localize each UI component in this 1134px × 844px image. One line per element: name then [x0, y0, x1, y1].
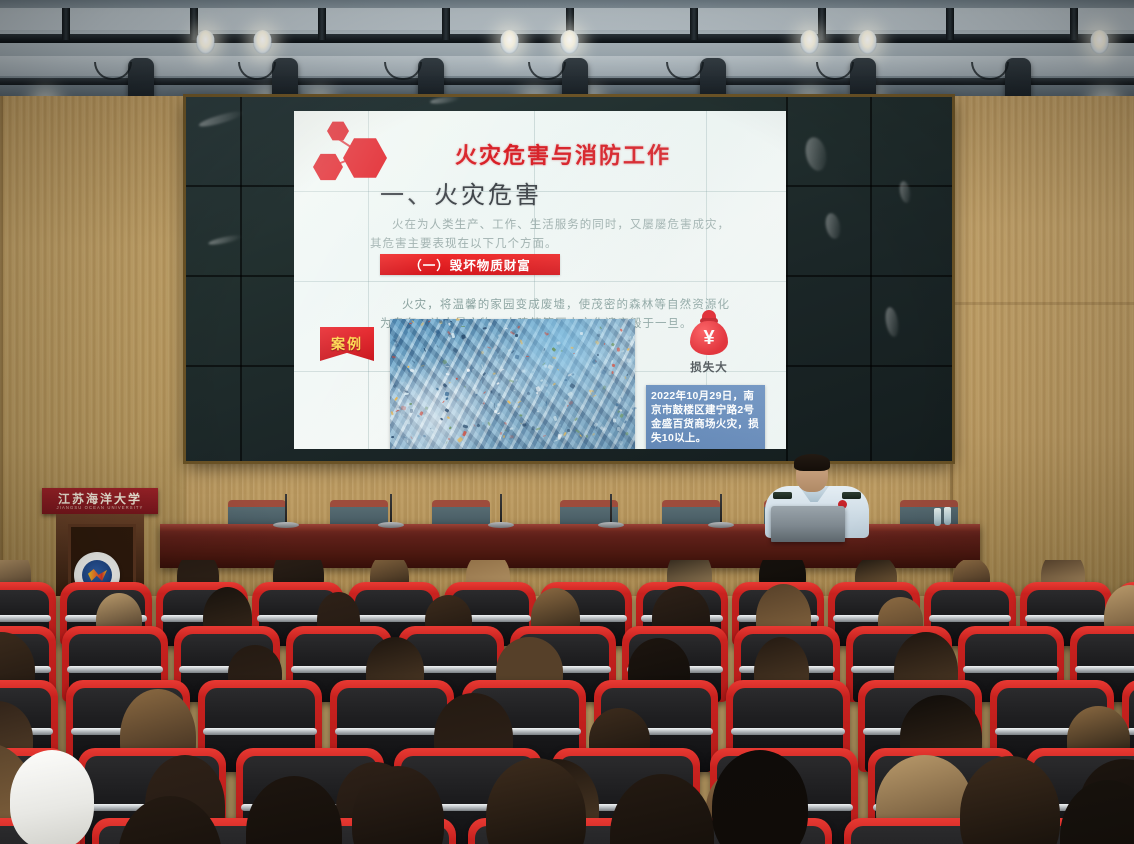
photo-detail-speck: [536, 427, 541, 430]
wall-seam: [950, 302, 1134, 305]
photo-detail-speck: [521, 370, 525, 373]
ceiling-downlight: [1090, 30, 1109, 54]
photo-detail-speck: [575, 429, 580, 434]
ceiling-truss-post: [62, 8, 70, 40]
podium-name-english: JIANGSU OCEAN UNIVERSITY: [42, 505, 158, 510]
photo-detail-speck: [410, 436, 412, 439]
photo-detail-speck: [463, 425, 469, 429]
photo-detail-speck: [448, 437, 451, 440]
speaker-hair: [794, 454, 830, 471]
photo-detail-speck: [568, 391, 574, 396]
photo-detail-speck: [548, 364, 554, 370]
photo-detail-speck: [496, 382, 500, 385]
ceiling-truss-post: [946, 8, 954, 40]
photo-detail-speck: [508, 379, 513, 383]
photo-detail-speck: [432, 429, 435, 432]
photo-detail-speck: [396, 366, 400, 372]
photo-detail-speck: [627, 347, 630, 350]
photo-detail-speck: [564, 379, 567, 381]
photo-detail-speck: [545, 401, 546, 406]
photo-detail-speck: [509, 440, 512, 444]
photo-detail-speck: [422, 434, 425, 437]
photo-detail-speck: [442, 359, 447, 364]
slide-title: 火灾危害与消防工作: [398, 138, 728, 170]
photo-detail-speck: [493, 345, 498, 350]
photo-detail-speck: [627, 359, 632, 363]
water-bottle: [934, 508, 941, 526]
wall-seam: [0, 96, 3, 596]
photo-detail-speck: [435, 387, 438, 390]
photo-detail-speck: [421, 365, 425, 367]
photo-detail-speck: [401, 356, 406, 360]
photo-detail-speck: [580, 332, 583, 335]
hexagon-large-icon: [343, 137, 387, 179]
ceiling-downlight: [196, 30, 215, 54]
ceiling-truss-post: [818, 8, 826, 40]
podium-nameplate: 江苏海洋大学 JIANGSU OCEAN UNIVERSITY: [42, 488, 158, 514]
photo-detail-speck: [544, 384, 548, 388]
photo-detail-speck: [632, 336, 634, 340]
screen-glare: [883, 306, 900, 338]
ceiling-truss-post: [442, 8, 450, 40]
photo-detail-speck: [450, 443, 452, 445]
photo-detail-speck: [573, 353, 575, 354]
photo-detail-speck: [390, 411, 394, 415]
photo-detail-speck: [620, 328, 623, 331]
photo-detail-speck: [438, 319, 442, 323]
seat-chrome-trim: [67, 666, 163, 673]
ceiling-truss-post: [1070, 8, 1078, 40]
photo-detail-speck: [391, 436, 394, 439]
screen-glare: [430, 97, 461, 105]
photo-detail-speck: [482, 422, 486, 426]
photo-detail-speck: [564, 432, 568, 436]
photo-detail-speck: [434, 412, 437, 417]
photo-detail-speck: [493, 373, 496, 375]
photo-detail-speck: [624, 376, 626, 379]
photo-detail-speck: [602, 385, 607, 390]
photo-detail-speck: [517, 405, 520, 408]
photo-detail-speck: [568, 401, 573, 406]
photo-detail-speck: [487, 371, 490, 374]
photo-detail-speck: [412, 360, 416, 364]
screen-glare: [898, 180, 912, 203]
photo-detail-speck: [500, 437, 502, 441]
photo-detail-speck: [461, 326, 465, 327]
photo-detail-speck: [416, 414, 419, 417]
photo-detail-speck: [401, 378, 405, 382]
photo-detail-speck: [468, 361, 471, 366]
screen-glare: [823, 212, 842, 240]
photo-detail-speck: [492, 417, 493, 419]
photo-detail-speck: [446, 373, 450, 375]
photo-detail-speck: [599, 425, 605, 430]
photo-detail-speck: [449, 426, 452, 429]
photo-detail-speck: [612, 379, 615, 382]
photo-detail-speck: [407, 440, 408, 443]
photo-detail-speck: [436, 345, 439, 348]
photo-detail-speck: [626, 373, 628, 375]
photo-detail-speck: [570, 383, 576, 389]
photo-detail-speck: [487, 422, 491, 427]
slide-body-paragraph-1: 火在为人类生产、工作、生活服务的同时，又屡屡危害成灾，其危害主要表现在以下几个方…: [370, 215, 730, 253]
photo-detail-speck: [617, 427, 620, 431]
photo-detail-speck: [435, 329, 440, 334]
photo-detail-speck: [445, 320, 447, 324]
audience-seating: [0, 560, 1134, 844]
photo-detail-speck: [443, 383, 448, 388]
photo-detail-speck: [536, 410, 539, 413]
photo-detail-speck: [580, 434, 583, 437]
photo-detail-speck: [423, 330, 426, 333]
seat-chrome-trim: [1075, 666, 1134, 673]
photo-detail-speck: [543, 435, 546, 437]
photo-detail-speck: [586, 435, 589, 438]
photo-detail-speck: [628, 335, 631, 338]
photo-detail-speck: [615, 402, 619, 405]
photo-detail-speck: [544, 348, 546, 351]
ceiling-downlight: [800, 30, 819, 54]
photo-detail-speck: [475, 388, 478, 393]
photo-detail-speck: [552, 347, 557, 352]
photo-detail-speck: [619, 441, 624, 446]
photo-detail-speck: [592, 364, 595, 367]
photo-detail-speck: [409, 323, 412, 325]
photo-detail-speck: [559, 423, 562, 426]
photo-detail-speck: [410, 409, 413, 413]
photo-detail-speck: [624, 420, 627, 424]
case-caption-box: 2022年10月29日，南京市鼓楼区建宁路2号金盛百货商场火灾，损失10以上。: [646, 385, 765, 449]
photo-detail-speck: [514, 389, 516, 391]
seat-chrome-trim: [1025, 615, 1107, 622]
seat-chrome-trim: [963, 666, 1059, 673]
photo-detail-speck: [609, 371, 612, 376]
photo-detail-speck: [519, 415, 522, 417]
photo-detail-speck: [631, 407, 636, 410]
photo-detail-speck: [603, 343, 605, 346]
photo-detail-speck: [406, 403, 409, 407]
photo-detail-speck: [449, 323, 451, 326]
photo-detail-speck: [394, 397, 398, 401]
hexagon-medium-icon: [313, 153, 343, 181]
photo-detail-speck: [572, 374, 575, 376]
photo-detail-speck: [497, 403, 501, 407]
photo-detail-speck: [456, 319, 460, 321]
ceiling-downlight: [560, 30, 579, 54]
ceiling-downlight: [500, 30, 519, 54]
presentation-slide[interactable]: 火灾危害与消防工作 一、火灾危害 火在为人类生产、工作、生活服务的同时，又屡屡危…: [294, 111, 786, 449]
photo-detail-speck: [425, 406, 428, 410]
photo-detail-speck: [594, 422, 599, 427]
photo-detail-speck: [445, 409, 450, 413]
photo-detail-speck: [488, 322, 492, 325]
photo-detail-speck: [610, 343, 615, 348]
photo-detail-speck: [481, 351, 485, 355]
photo-detail-speck: [395, 342, 400, 347]
photo-detail-speck: [496, 354, 500, 359]
photo-detail-speck: [557, 369, 559, 371]
photo-detail-speck: [594, 340, 599, 345]
photo-detail-speck: [520, 423, 522, 425]
photo-detail-speck: [511, 350, 514, 354]
photo-detail-speck: [494, 403, 495, 408]
photo-detail-speck: [535, 392, 537, 394]
ceiling-truss-post: [690, 8, 698, 40]
fire-aftermath-photo: [390, 319, 635, 449]
photo-detail-speck: [557, 341, 561, 344]
photo-detail-speck: [439, 417, 443, 421]
photo-detail-speck: [491, 390, 493, 393]
photo-detail-speck: [542, 341, 546, 344]
seat-chrome-trim: [0, 615, 51, 622]
photo-detail-speck: [428, 320, 431, 322]
seat-chrome-trim: [353, 615, 435, 622]
photo-detail-speck: [520, 339, 523, 344]
photo-detail-speck: [422, 415, 427, 418]
ceiling: [0, 0, 1134, 104]
photo-detail-speck: [540, 379, 543, 381]
water-bottle: [944, 507, 951, 525]
microphone-base: [273, 522, 299, 528]
photo-detail-speck: [510, 428, 514, 430]
photo-detail-speck: [445, 392, 450, 396]
photo-detail-speck: [597, 334, 601, 338]
photo-detail-speck: [449, 383, 451, 385]
photo-detail-speck: [460, 319, 462, 321]
videowall-seam: [870, 97, 872, 461]
case-study-badge: 案例: [320, 327, 374, 361]
photo-detail-speck: [607, 432, 612, 437]
photo-detail-speck: [420, 322, 424, 327]
photo-detail-speck: [620, 397, 623, 401]
photo-detail-speck: [517, 325, 521, 329]
photo-detail-speck: [553, 415, 557, 420]
photo-detail-speck: [537, 402, 543, 407]
photo-detail-speck: [526, 356, 529, 357]
microphone-base: [378, 522, 404, 528]
photo-detail-speck: [552, 382, 555, 385]
seat-chrome-trim: [929, 615, 1011, 622]
photo-detail-speck: [536, 386, 541, 392]
photo-detail-speck: [624, 431, 628, 435]
photo-detail-speck: [461, 334, 465, 339]
photo-detail-speck: [504, 429, 507, 431]
photo-detail-speck: [397, 389, 400, 393]
photo-detail-speck: [515, 355, 520, 360]
photo-detail-speck: [545, 392, 549, 397]
photo-detail-speck: [531, 370, 535, 373]
photo-detail-speck: [573, 417, 577, 421]
photo-detail-speck: [567, 429, 570, 432]
photo-detail-speck: [393, 384, 397, 388]
right-wall-wood-panel: [950, 96, 1134, 596]
money-bag-icon: ¥: [686, 307, 732, 357]
photo-detail-speck: [510, 405, 512, 407]
photo-detail-speck: [603, 366, 606, 369]
ceiling-truss-post: [318, 8, 326, 40]
photo-detail-speck: [408, 327, 411, 331]
photo-detail-speck: [522, 423, 527, 426]
microphone-base: [598, 522, 624, 528]
photo-detail-speck: [490, 401, 492, 404]
speaker-epaulet-right: [842, 492, 861, 499]
hexagon-small-icon: [327, 121, 349, 141]
photo-detail-speck: [497, 334, 501, 338]
photo-detail-speck: [501, 368, 504, 370]
photo-detail-speck: [402, 413, 405, 416]
photo-detail-speck: [442, 400, 445, 403]
money-bag-label: 损失大: [670, 359, 748, 375]
presenter-laptop[interactable]: [771, 506, 845, 542]
microphone-base: [488, 522, 514, 528]
photo-detail-speck: [487, 394, 490, 397]
photo-detail-speck: [424, 348, 427, 352]
photo-detail-speck: [505, 422, 508, 425]
photo-detail-speck: [595, 427, 597, 429]
photo-detail-speck: [505, 328, 508, 330]
photo-detail-speck: [482, 371, 486, 376]
videowall-seam: [786, 97, 788, 461]
photo-detail-speck: [487, 346, 491, 348]
photo-detail-speck: [561, 350, 563, 352]
seat-chrome-trim: [731, 728, 845, 735]
lecture-hall-photo: 火灾危害与消防工作 一、火灾危害 火在为人类生产、工作、生活服务的同时，又屡屡危…: [0, 0, 1134, 844]
photo-detail-speck: [445, 397, 448, 400]
photo-detail-speck: [417, 435, 419, 439]
photo-detail-speck: [462, 431, 467, 437]
videowall-seam: [240, 97, 242, 461]
slide-subtitle: 一、火灾危害: [380, 175, 680, 210]
photo-detail-speck: [481, 364, 484, 369]
photo-detail-speck: [456, 378, 458, 380]
photo-detail-speck: [501, 347, 507, 352]
photo-detail-speck: [472, 368, 474, 370]
led-video-wall[interactable]: 火灾危害与消防工作 一、火灾危害 火在为人类生产、工作、生活服务的同时，又屡屡危…: [186, 97, 952, 461]
photo-detail-speck: [406, 419, 410, 424]
photo-detail-speck: [452, 347, 458, 353]
photo-detail-speck: [403, 436, 408, 439]
photo-detail-speck: [622, 350, 625, 353]
ceiling-downlight: [253, 30, 272, 54]
photo-detail-speck: [627, 412, 631, 416]
photo-detail-speck: [526, 419, 529, 422]
photo-detail-speck: [507, 400, 511, 404]
photo-detail-speck: [482, 327, 486, 330]
photo-detail-speck: [514, 334, 518, 338]
photo-detail-speck: [552, 356, 556, 359]
slide-section-banner: （一）毁坏物质财富: [380, 254, 560, 275]
photo-detail-speck: [619, 408, 622, 411]
seat-chrome-trim: [335, 728, 449, 735]
photo-detail-speck: [592, 432, 596, 436]
yen-symbol-icon: ¥: [690, 325, 728, 351]
photo-detail-speck: [496, 374, 500, 378]
photo-detail-speck: [619, 413, 623, 418]
photo-detail-speck: [503, 435, 505, 438]
photo-detail-speck: [410, 368, 415, 372]
photo-detail-speck: [392, 355, 396, 358]
photo-detail-speck: [576, 349, 579, 353]
photo-detail-speck: [516, 379, 518, 381]
photo-detail-speck: [481, 380, 483, 384]
audience-member-hat: [10, 750, 94, 844]
photo-detail-speck: [567, 405, 569, 407]
photo-detail-speck: [476, 423, 480, 427]
photo-detail-speck: [464, 385, 466, 387]
photo-detail-speck: [446, 416, 450, 420]
photo-detail-speck: [612, 371, 614, 374]
photo-detail-speck: [497, 412, 500, 414]
photo-detail-speck: [456, 397, 460, 400]
photo-detail-speck: [627, 339, 630, 342]
photo-detail-speck: [526, 392, 530, 396]
photo-detail-speck: [458, 437, 464, 443]
photo-detail-speck: [446, 441, 449, 445]
ceiling-downlight: [858, 30, 877, 54]
screen-glare: [803, 135, 830, 172]
photo-detail-speck: [497, 392, 501, 396]
photo-detail-speck: [617, 347, 620, 351]
photo-detail-speck: [532, 426, 536, 431]
photo-detail-speck: [446, 366, 450, 367]
screen-glare: [198, 109, 244, 129]
photo-detail-speck: [466, 368, 469, 372]
photo-detail-speck: [600, 369, 606, 374]
photo-detail-speck: [593, 395, 597, 398]
seat-chrome-trim: [203, 728, 317, 735]
photo-detail-speck: [582, 323, 585, 326]
photo-detail-speck: [612, 419, 615, 423]
photo-detail-speck: [573, 354, 578, 357]
photo-detail-speck: [585, 373, 588, 377]
photo-detail-speck: [510, 435, 514, 438]
photo-detail-speck: [538, 438, 542, 442]
microphone-base: [708, 522, 734, 528]
speaker-epaulet-left: [773, 492, 792, 499]
screen-glare: [208, 234, 243, 247]
photo-detail-speck: [517, 401, 521, 404]
photo-detail-speck: [570, 347, 573, 349]
photo-detail-speck: [597, 354, 600, 357]
photo-detail-speck: [612, 364, 616, 368]
